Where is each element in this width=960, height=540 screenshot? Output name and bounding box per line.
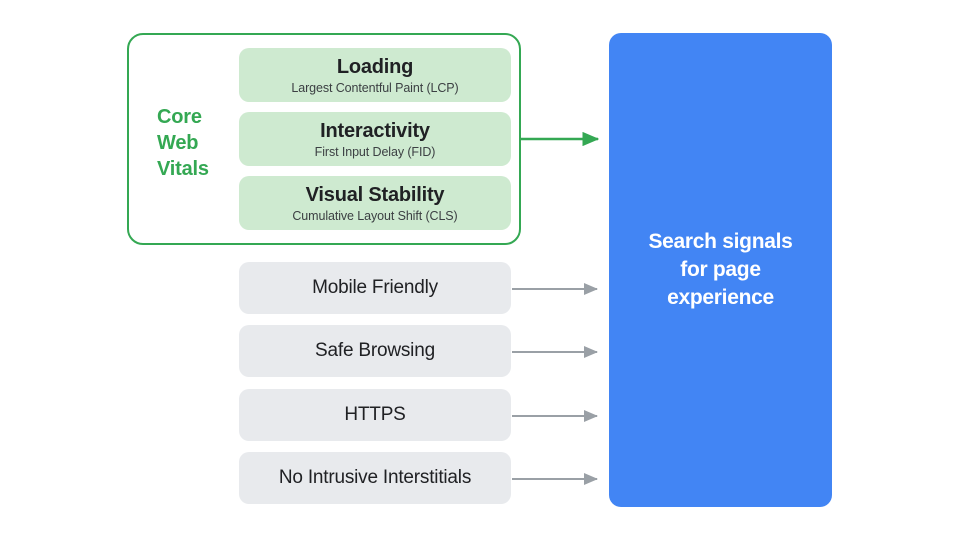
signal-label: Mobile Friendly bbox=[312, 276, 438, 300]
metric-card-loading[interactable]: Loading Largest Contentful Paint (LCP) bbox=[239, 48, 511, 102]
core-web-vitals-label-line-3: Vitals bbox=[157, 158, 209, 180]
signal-box-no-intrusive-interstitials[interactable]: No Intrusive Interstitials bbox=[239, 452, 511, 504]
core-web-vitals-label: CoreWebVitals bbox=[157, 104, 237, 182]
signal-box-safe-browsing[interactable]: Safe Browsing bbox=[239, 325, 511, 377]
signal-box-https[interactable]: HTTPS bbox=[239, 389, 511, 441]
core-web-vitals-label-line-1: Core bbox=[157, 106, 202, 128]
signal-label: HTTPS bbox=[344, 403, 405, 427]
metric-title: Interactivity bbox=[320, 119, 430, 143]
core-web-vitals-label-line-2: Web bbox=[157, 132, 198, 154]
result-text: Search signals for page experience bbox=[631, 228, 811, 312]
signal-label: No Intrusive Interstitials bbox=[279, 466, 471, 490]
metric-card-visual-stability[interactable]: Visual Stability Cumulative Layout Shift… bbox=[239, 176, 511, 230]
diagram-canvas: CoreWebVitals Loading Largest Contentful… bbox=[0, 0, 960, 540]
result-box-search-signals[interactable]: Search signals for page experience bbox=[609, 33, 832, 507]
signal-box-mobile-friendly[interactable]: Mobile Friendly bbox=[239, 262, 511, 314]
metric-subtitle: First Input Delay (FID) bbox=[315, 144, 436, 160]
metric-card-interactivity[interactable]: Interactivity First Input Delay (FID) bbox=[239, 112, 511, 166]
metric-subtitle: Largest Contentful Paint (LCP) bbox=[291, 80, 458, 96]
metric-title: Loading bbox=[337, 55, 413, 79]
metric-subtitle: Cumulative Layout Shift (CLS) bbox=[292, 208, 457, 224]
signal-label: Safe Browsing bbox=[315, 339, 435, 363]
metric-title: Visual Stability bbox=[306, 183, 445, 207]
